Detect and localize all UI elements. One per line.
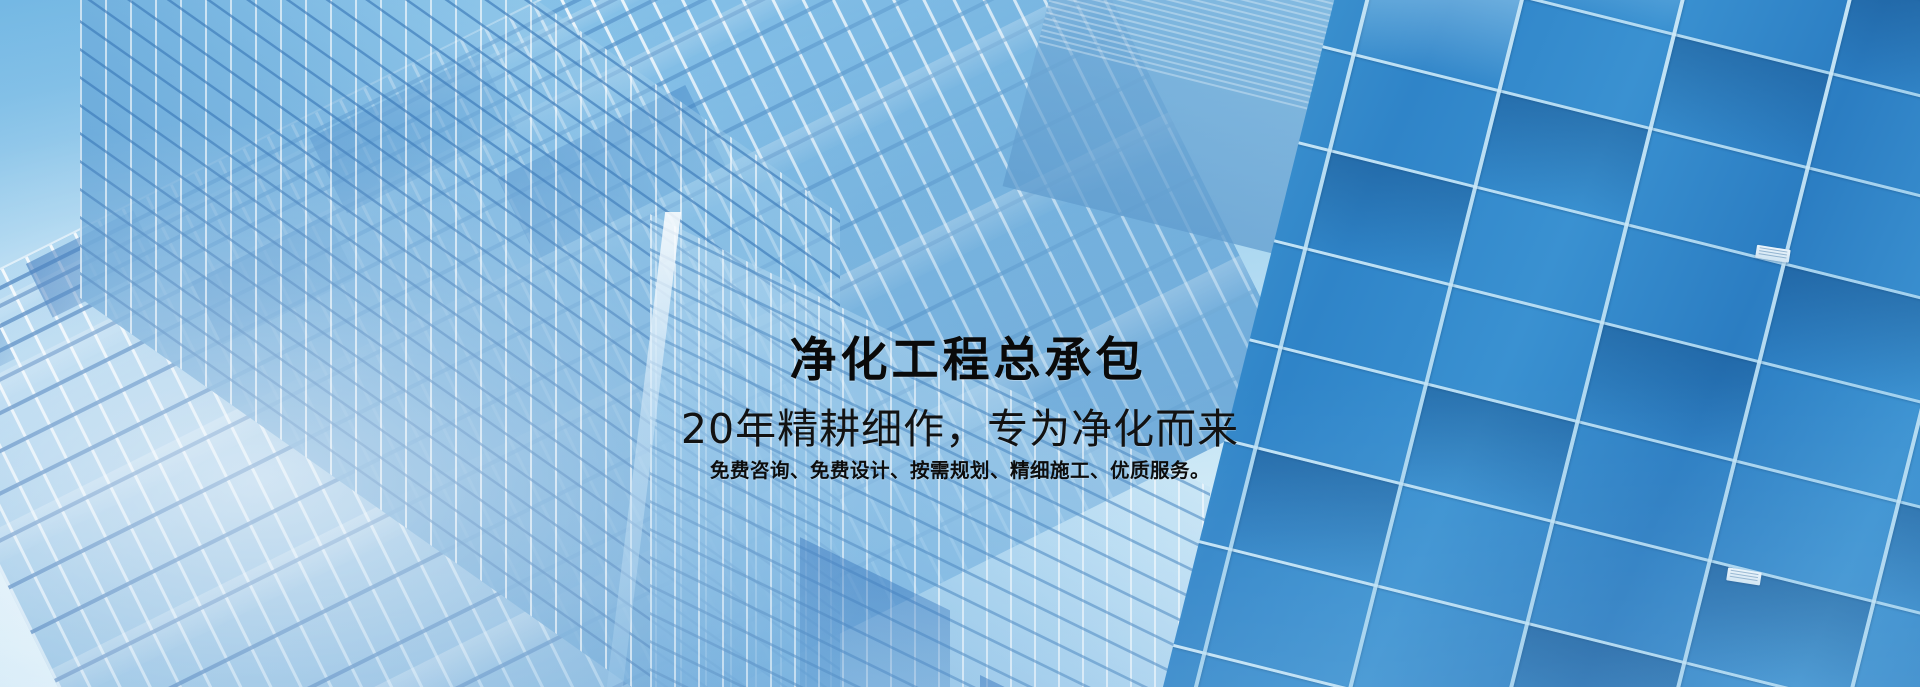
glass-panel-reflection: [980, 675, 1110, 687]
glass-panel-shaded: [1876, 503, 1920, 642]
banner-headline: 净化工程总承包: [8, 336, 1920, 386]
mullion-vertical: [80, 0, 82, 299]
glass-panel-shaded: [1308, 153, 1473, 283]
glass-panel-shaded: [1653, 36, 1829, 166]
mullion-vertical: [480, 0, 482, 581]
mullion-vertical: [105, 0, 107, 317]
banner-subheadline: 20年精耕细作，专为净化而来: [0, 408, 1920, 451]
mullion-horizontal: [80, 0, 840, 223]
glass-panel-shaded: [1687, 563, 1871, 687]
glass-panel-shaded: [1477, 93, 1648, 223]
glass-panel-shaded: [1834, 0, 1920, 113]
banner-copy-block: 净化工程总承包 20年精耕细作，专为净化而来 免费咨询、免费设计、按需规划、精细…: [0, 336, 1920, 482]
glass-panel-reflection: [800, 537, 950, 687]
glass-panel-shaded: [1504, 625, 1683, 687]
mullion-vertical: [530, 0, 532, 617]
mullion-vertical: [505, 0, 507, 599]
banner-tagline: 免费咨询、免费设计、按需规划、精细施工、优质服务。: [0, 459, 1920, 482]
hero-banner: 净化工程总承包 20年精耕细作，专为净化而来 免费咨询、免费设计、按需规划、精细…: [0, 0, 1920, 687]
